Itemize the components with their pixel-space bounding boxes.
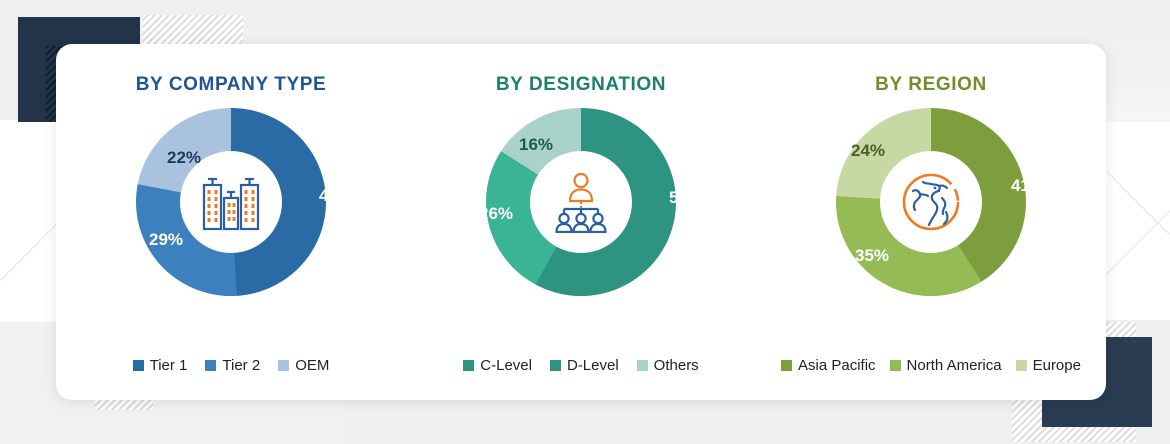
legend-swatch-europe <box>1016 360 1027 371</box>
legend-label-c-level: C-Level <box>480 357 532 374</box>
slice-label-tier-2: 29% <box>149 230 183 250</box>
legend-item-asia-pacific[interactable]: Asia Pacific <box>781 357 876 374</box>
navy-corner-bottom-right-arm <box>1042 397 1152 427</box>
chart-card: BY COMPANY TYPE <box>56 44 1106 400</box>
legend-label-north-america: North America <box>907 357 1002 374</box>
slice-label-north-america: 35% <box>855 246 889 266</box>
infographic-canvas: BY COMPANY TYPE <box>0 0 1170 444</box>
panel-title-region: BY REGION <box>875 74 987 96</box>
office-buildings-icon <box>200 169 262 235</box>
legend-swatch-others <box>637 360 648 371</box>
donut-center-designation <box>530 151 632 253</box>
panel-title-company-type: BY COMPANY TYPE <box>136 74 327 96</box>
legend-item-oem[interactable]: OEM <box>278 357 329 374</box>
legend-item-c-level[interactable]: C-Level <box>463 357 532 374</box>
panel-title-designation: BY DESIGNATION <box>496 74 666 96</box>
slice-label-asia-pacific: 41% <box>1011 176 1045 196</box>
legend-swatch-oem <box>278 360 289 371</box>
legend-item-europe[interactable]: Europe <box>1016 357 1081 374</box>
legend-swatch-asia-pacific <box>781 360 792 371</box>
legend-region: Asia Pacific North America Europe <box>756 357 1106 374</box>
legend-swatch-c-level <box>463 360 474 371</box>
donut-company-type: 49% 29% 22% <box>131 108 331 296</box>
org-chart-people-icon <box>549 171 613 233</box>
legend-swatch-tier-1 <box>133 360 144 371</box>
chart-panels: BY COMPANY TYPE <box>56 44 1106 400</box>
panel-company-type: BY COMPANY TYPE <box>56 44 406 400</box>
legend-label-d-level: D-Level <box>567 357 619 374</box>
legend-label-europe: Europe <box>1033 357 1081 374</box>
slice-label-oem: 22% <box>167 148 201 168</box>
legend-item-d-level[interactable]: D-Level <box>550 357 619 374</box>
legend-designation: C-Level D-Level Others <box>406 357 756 374</box>
donut-center-region <box>880 151 982 253</box>
navy-corner-top-left-strip <box>18 17 46 122</box>
panel-designation: BY DESIGNATION <box>406 44 756 400</box>
slice-label-others: 16% <box>519 135 553 155</box>
donut-region: 41% 35% 24% <box>831 108 1031 296</box>
slice-label-d-level: 26% <box>479 204 513 224</box>
panel-region: BY REGION <box>756 44 1106 400</box>
legend-label-tier-2: Tier 2 <box>222 357 260 374</box>
hatch-block-br-base <box>1012 398 1094 442</box>
legend-label-oem: OEM <box>295 357 329 374</box>
legend-item-north-america[interactable]: North America <box>890 357 1002 374</box>
legend-item-tier-2[interactable]: Tier 2 <box>205 357 260 374</box>
navy-corner-bottom-right-leg <box>1106 337 1152 427</box>
slice-label-tier-1: 49% <box>319 186 353 206</box>
navy-corner-top-left-arm <box>18 17 140 46</box>
legend-item-others[interactable]: Others <box>637 357 699 374</box>
legend-swatch-d-level <box>550 360 561 371</box>
slice-label-europe: 24% <box>851 141 885 161</box>
donut-designation: 58% 26% 16% <box>481 108 681 296</box>
legend-company-type: Tier 1 Tier 2 OEM <box>56 357 406 374</box>
legend-label-others: Others <box>654 357 699 374</box>
legend-label-tier-1: Tier 1 <box>150 357 188 374</box>
legend-label-asia-pacific: Asia Pacific <box>798 357 876 374</box>
legend-swatch-tier-2 <box>205 360 216 371</box>
legend-swatch-north-america <box>890 360 901 371</box>
globe-icon <box>898 169 964 235</box>
slice-label-c-level: 58% <box>669 188 703 208</box>
legend-item-tier-1[interactable]: Tier 1 <box>133 357 188 374</box>
